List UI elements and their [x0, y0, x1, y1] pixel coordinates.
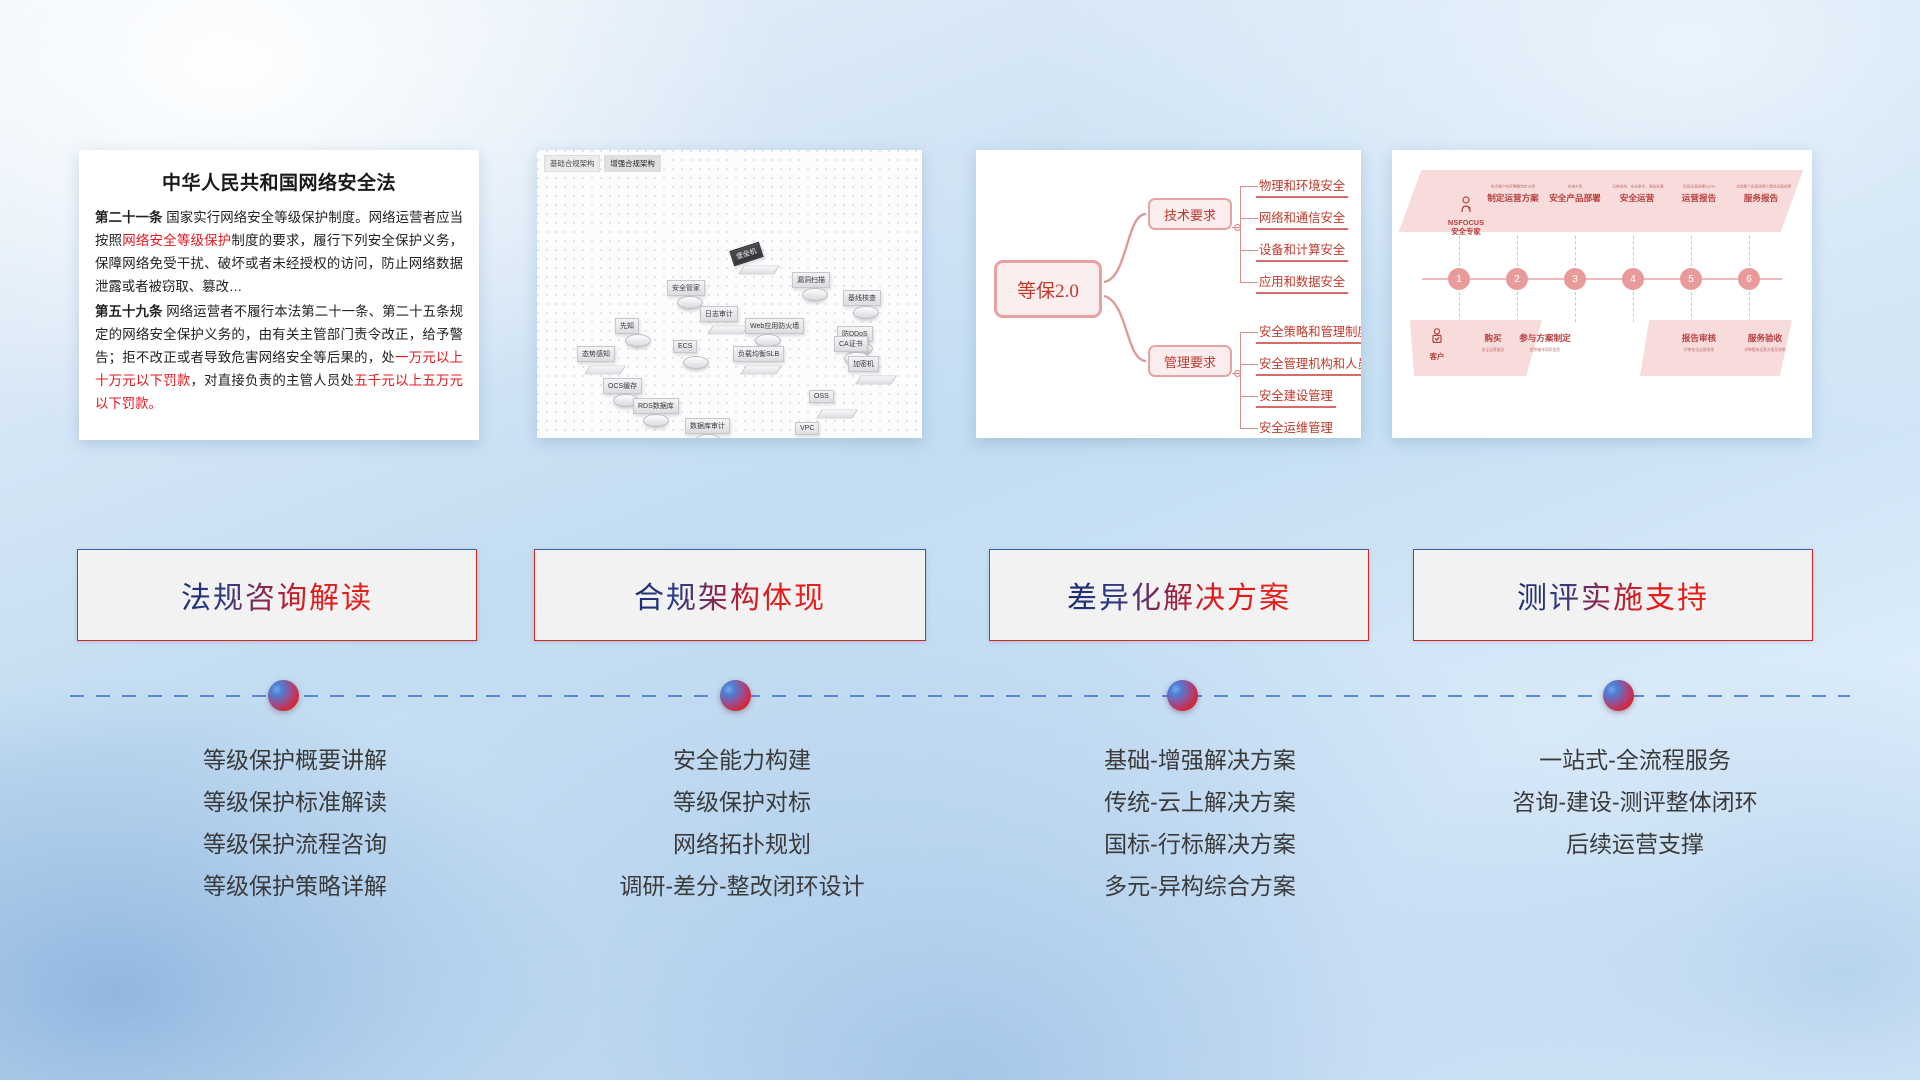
mindmap-leaf: 应用和数据安全 — [1256, 272, 1348, 294]
architecture-node: VPC — [795, 422, 819, 435]
card-cloud-architecture[interactable]: 基础合规架构 增强合规架构 态势感知先知安全管家堡垒机漏洞扫描基线核查日志审计W… — [537, 150, 922, 438]
mindmap-connector — [1240, 250, 1258, 251]
flow-band-step: 结合客户实际需要制定方案制定运营方案 — [1482, 184, 1544, 204]
flow-step-tick — [1575, 236, 1576, 266]
flow-step-tick — [1749, 292, 1750, 322]
architecture-node: OCS缓存 — [603, 378, 642, 394]
list-item: 等级保护流程咨询 — [40, 824, 550, 866]
mindmap-connector — [1232, 373, 1240, 374]
law-article-21-highlight: 网络安全等级保护 — [122, 233, 231, 248]
flow-step-tick — [1517, 236, 1518, 266]
list-item: 网络拓扑规划 — [487, 824, 997, 866]
mindmap-connector — [1240, 218, 1258, 219]
architecture-node: 负载均衡SLB — [733, 346, 784, 362]
list-item: 等级保护对标 — [487, 782, 997, 824]
tab-enhanced-architecture[interactable]: 增强合规架构 — [604, 155, 660, 172]
card-service-flow[interactable]: NSFOCUS 安全专家 结合客户实际需要制定方案制定运营方案实施方案安全产品部… — [1392, 150, 1812, 438]
architecture-node: 基线核查 — [843, 290, 881, 306]
architecture-node-base — [707, 326, 748, 335]
flow-lower-step-main: 报告审核 — [1670, 332, 1728, 344]
architecture-node-base — [683, 356, 709, 369]
mindmap-leaf: 安全运维管理 — [1256, 418, 1336, 438]
mindmap-center-node: 等保2.0 — [994, 260, 1102, 318]
detail-list-4: 一站式-全流程服务咨询-建设-测评整体闭环后续运营支撑 — [1355, 740, 1915, 866]
list-item: 等级保护概要讲解 — [40, 740, 550, 782]
flow-lower-step-sub: 提供基本现状信息 — [1521, 348, 1569, 353]
card-cybersecurity-law[interactable]: 中华人民共和国网络安全法 第二十一条 国家实行网络安全等级保护制度。网络运营者应… — [79, 150, 479, 440]
law-article-21-label: 第二十一条 — [95, 210, 162, 225]
architecture-node: ECS — [673, 340, 697, 353]
flow-lower-step: 服务验收评审整体运营方案及效果 — [1736, 332, 1794, 353]
customer-label: 客户 — [1420, 351, 1454, 362]
list-item: 咨询-建设-测评整体闭环 — [1355, 782, 1915, 824]
headline-label-3: 差异化解决方案 — [1067, 573, 1291, 617]
architecture-node-base — [643, 414, 669, 427]
flow-lower-step: 参与方案制定提供基本现状信息 — [1516, 332, 1574, 353]
law-article-59: 第五十九条 网络运营者不履行本法第二十一条、第二十五条规定的网络安全保护义务的，… — [95, 300, 463, 415]
flow-step-marker: 6 — [1738, 268, 1760, 290]
flow-lower-step: 报告审核评审安全运营效果 — [1670, 332, 1728, 353]
architecture-node: CA证书 — [834, 336, 868, 352]
law-title: 中华人民共和国网络安全法 — [95, 168, 463, 195]
flow-step-tick — [1749, 236, 1750, 266]
tab-basic-architecture[interactable]: 基础合规架构 — [544, 155, 600, 172]
list-item: 多元-异构综合方案 — [945, 866, 1455, 908]
flow-step-tick — [1575, 292, 1576, 322]
law-article-59-text-b: ，对直接负责的主管人员处 — [190, 373, 354, 388]
architecture-node-base — [855, 376, 896, 385]
law-article-59-label: 第五十九条 — [95, 304, 162, 319]
flow-lower-step-main: 服务验收 — [1736, 332, 1794, 344]
mindmap-connector-spine — [1240, 186, 1241, 282]
architecture-node-base — [740, 366, 781, 375]
flow-step-marker: 4 — [1622, 268, 1644, 290]
mindmap-connector — [1240, 332, 1258, 333]
flow-band-step-main: 安全运营 — [1606, 192, 1668, 204]
architecture-node: 态势感知 — [577, 346, 615, 362]
list-item: 后续运营支撑 — [1355, 824, 1915, 866]
flow-band-step: 阶段运营效果report运营报告 — [1668, 184, 1730, 204]
preview-card-row: 中华人民共和国网络安全法 第二十一条 国家实行网络安全等级保护制度。网络运营者应… — [0, 150, 1920, 450]
list-item: 调研-差分-整改闭环设计 — [487, 866, 997, 908]
mindmap-branch-management: 管理要求 — [1148, 345, 1232, 377]
flow-band-step-sub: 总结整个运营周期之整体运营效果 — [1736, 185, 1786, 189]
flow-lower-step: 购买安全运营服务 — [1464, 332, 1522, 353]
architecture-node: 安全管家 — [667, 280, 705, 296]
flow-band-step-sub: 实施方案 — [1550, 185, 1600, 189]
timeline-dashed-line — [70, 695, 1850, 697]
flow-lower-step-sub: 评审整体运营方案及效果 — [1741, 348, 1789, 353]
mindmap-connector — [1240, 428, 1258, 429]
list-item: 一站式-全流程服务 — [1355, 740, 1915, 782]
mindmap-leaf: 设备和计算安全 — [1256, 240, 1348, 262]
expert-avatar-icon — [1458, 196, 1474, 213]
timeline-dot-1[interactable] — [268, 680, 299, 711]
mindmap-connector — [1240, 282, 1258, 283]
architecture-node: 堡垒机 — [729, 242, 763, 267]
timeline-dot-3[interactable] — [1167, 680, 1198, 711]
flow-step-marker: 2 — [1506, 268, 1528, 290]
architecture-node: RDS数据库 — [633, 398, 679, 414]
flow-band-step-main: 服务报告 — [1730, 192, 1792, 204]
headline-box-regulation-consulting[interactable]: 法规咨询解读 — [77, 549, 477, 641]
architecture-node: 漏洞扫描 — [792, 272, 830, 288]
mindmap-connector — [1240, 364, 1258, 365]
flow-band-step-main: 制定运营方案 — [1482, 192, 1544, 204]
list-item: 等级保护策略详解 — [40, 866, 550, 908]
flow-lower-step-sub: 安全运营服务 — [1469, 348, 1517, 353]
flow-band-step-sub: 结合客户实际需要制定方案 — [1488, 185, 1538, 189]
flow-step-tick — [1459, 236, 1460, 266]
flow-lower-step-sub: 评审安全运营效果 — [1675, 348, 1723, 353]
headline-box-differentiated-solution[interactable]: 差异化解决方案 — [989, 549, 1369, 641]
architecture-node-base — [738, 266, 779, 275]
headline-label-2: 合规架构体现 — [634, 573, 826, 617]
customer-label-group: 客户 — [1420, 328, 1454, 362]
headline-label-4: 测评实施支持 — [1517, 573, 1709, 617]
flow-step-tick — [1691, 292, 1692, 322]
flow-band-step-sub: 阶段运营效果report — [1674, 185, 1724, 189]
architecture-node: 数据库审计 — [685, 418, 730, 434]
card-mindmap[interactable]: 等保2.0 技术要求 管理要求 物理和环境安全网络和通信安全设备和计算安全应用和… — [976, 150, 1361, 438]
flow-step-tick — [1633, 292, 1634, 322]
mindmap-connector — [1240, 186, 1258, 187]
flow-axis — [1422, 278, 1782, 280]
flow-step-marker: 1 — [1448, 268, 1470, 290]
detail-list-row: 等级保护概要讲解等级保护标准解读等级保护流程咨询等级保护策略详解 安全能力构建等… — [0, 740, 1920, 990]
timeline-dot-2[interactable] — [720, 680, 751, 711]
timeline — [70, 694, 1850, 698]
flow-band-step: 日常巡检、安全事件、高危处置安全运营 — [1606, 184, 1668, 204]
architecture-node-base — [584, 366, 625, 375]
slide-canvas: 中华人民共和国网络安全法 第二十一条 国家实行网络安全等级保护制度。网络运营者应… — [0, 0, 1920, 1080]
headline-box-compliance-architecture[interactable]: 合规架构体现 — [534, 549, 926, 641]
architecture-tab-bar[interactable]: 基础合规架构 增强合规架构 — [544, 155, 661, 172]
architecture-node-base — [625, 334, 651, 347]
flow-step-tick — [1691, 236, 1692, 266]
headline-label-1: 法规咨询解读 — [181, 573, 373, 617]
mindmap-connector — [1232, 227, 1240, 228]
architecture-diagram: 基础合规架构 增强合规架构 态势感知先知安全管家堡垒机漏洞扫描基线核查日志审计W… — [537, 150, 922, 438]
mindmap-leaf: 安全策略和管理制度 — [1256, 322, 1361, 344]
flow-step-tick — [1459, 292, 1460, 322]
mindmap-connector-spine — [1240, 332, 1241, 428]
customer-icon — [1429, 328, 1445, 344]
nsfocus-brand-sub: 安全专家 — [1436, 227, 1496, 236]
headline-box-assessment-support[interactable]: 测评实施支持 — [1413, 549, 1813, 641]
service-flow-diagram: NSFOCUS 安全专家 结合客户实际需要制定方案制定运营方案实施方案安全产品部… — [1392, 150, 1812, 438]
architecture-node: 加密机 — [848, 356, 879, 372]
nsfocus-brand: NSFOCUS — [1436, 218, 1496, 227]
architecture-node: OSS — [809, 390, 834, 403]
headline-row: 法规咨询解读 合规架构体现 差异化解决方案 测评实施支持 — [0, 549, 1920, 649]
detail-list-2: 安全能力构建等级保护对标网络拓扑规划调研-差分-整改闭环设计 — [487, 740, 997, 907]
mindmap-leaf: 安全管理机构和人员 — [1256, 354, 1361, 376]
flow-lower-step-main: 购买 — [1464, 332, 1522, 344]
flow-step-marker: 3 — [1564, 268, 1586, 290]
mindmap-leaf: 物理和环境安全 — [1256, 176, 1348, 198]
architecture-node-base — [853, 306, 879, 319]
mindmap-connector — [1240, 396, 1258, 397]
flow-band-step-sub: 日常巡检、安全事件、高危处置 — [1612, 185, 1662, 189]
list-item: 等级保护标准解读 — [40, 782, 550, 824]
flow-step-marker: 5 — [1680, 268, 1702, 290]
architecture-node: 日志审计 — [700, 306, 738, 322]
architecture-node-base — [802, 288, 828, 301]
architecture-node-base — [816, 410, 857, 419]
flow-step-tick — [1517, 292, 1518, 322]
flow-band-content: NSFOCUS 安全专家 结合客户实际需要制定方案制定运营方案实施方案安全产品部… — [1410, 170, 1792, 232]
mindmap-branch-technical: 技术要求 — [1148, 198, 1232, 230]
flow-lower-step-main: 参与方案制定 — [1516, 332, 1574, 344]
law-article-21: 第二十一条 国家实行网络安全等级保护制度。网络运营者应当按照网络安全等级保护制度… — [95, 206, 463, 298]
architecture-node: 先知 — [615, 318, 639, 334]
flow-band-step: 总结整个运营周期之整体运营效果服务报告 — [1730, 184, 1792, 204]
detail-list-1: 等级保护概要讲解等级保护标准解读等级保护流程咨询等级保护策略详解 — [40, 740, 550, 907]
architecture-node: Web应用防火墙 — [745, 318, 804, 334]
flow-step-tick — [1633, 236, 1634, 266]
architecture-node-base — [695, 434, 721, 438]
mindmap-leaf: 网络和通信安全 — [1256, 208, 1348, 230]
flow-band-step-main: 安全产品部署 — [1544, 192, 1606, 204]
mindmap-leaf: 安全建设管理 — [1256, 386, 1336, 408]
flow-band-step: 实施方案安全产品部署 — [1544, 184, 1606, 204]
timeline-dot-4[interactable] — [1603, 680, 1634, 711]
list-item: 安全能力构建 — [487, 740, 997, 782]
flow-band-step-main: 运营报告 — [1668, 192, 1730, 204]
mindmap-diagram: 等保2.0 技术要求 管理要求 物理和环境安全网络和通信安全设备和计算安全应用和… — [976, 150, 1361, 438]
